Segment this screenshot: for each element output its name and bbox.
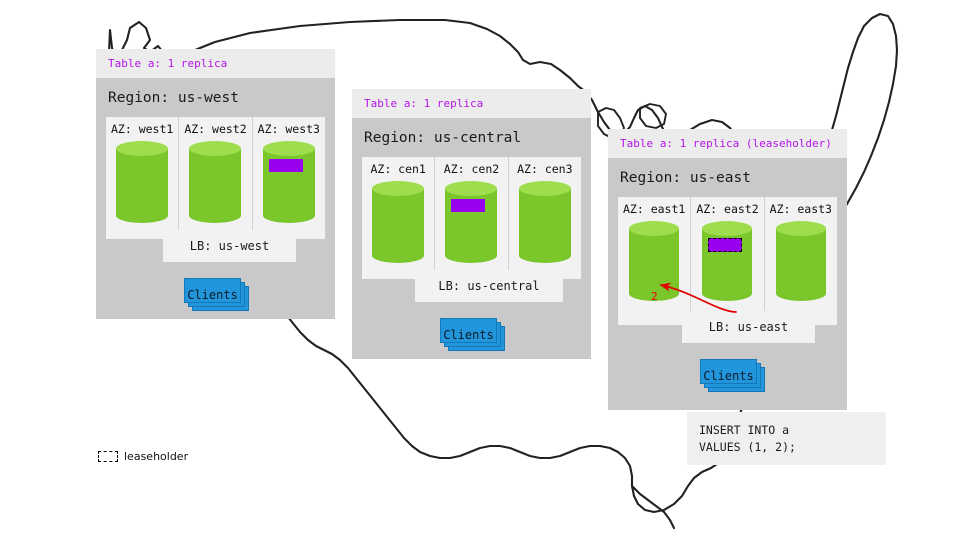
region-panel-us-central[interactable]: Table a: 1 replica Region: us-central AZ… [352, 89, 591, 359]
az-label-east1: AZ: east1 [618, 204, 690, 216]
az-label-east2: AZ: east2 [691, 204, 763, 216]
cylinder-body [629, 228, 679, 294]
load-balancer-us-west[interactable]: LB: us-west [163, 230, 296, 262]
region-title-us-central: Region: us-central [352, 118, 591, 157]
az-label-cen1: AZ: cen1 [362, 164, 434, 176]
legend-label: leaseholder [124, 450, 188, 463]
clients-group-us-central[interactable]: Clients [440, 318, 497, 343]
cylinder-body [116, 148, 168, 216]
az-label-cen3: AZ: cen3 [509, 164, 581, 176]
node-cylinder-east2[interactable] [702, 221, 752, 301]
az-cell-east1[interactable]: AZ: east1 [618, 197, 691, 325]
node-cylinder-east3[interactable] [776, 221, 826, 301]
cylinder-top [372, 181, 424, 196]
cylinder-top [116, 141, 168, 156]
az-cell-cen3[interactable]: AZ: cen3 [509, 157, 581, 279]
region-title-us-east: Region: us-east [608, 158, 847, 197]
region-banner-us-east: Table a: 1 replica (leaseholder) [608, 129, 847, 158]
node-cylinder-west1[interactable] [116, 141, 168, 223]
az-row-us-east: AZ: east1 AZ: east2 [618, 197, 837, 325]
clients-button-us-central[interactable]: Clients [440, 318, 497, 343]
az-cell-west1[interactable]: AZ: west1 [106, 117, 179, 239]
sql-statement-note: INSERT INTO a VALUES (1, 2); [687, 412, 886, 465]
region-panel-us-west[interactable]: Table a: 1 replica Region: us-west AZ: w… [96, 49, 335, 319]
region-title-us-west: Region: us-west [96, 78, 335, 117]
node-cylinder-west3[interactable] [263, 141, 315, 223]
cylinder-top [629, 221, 679, 236]
arrow-step-label: 2 [651, 291, 658, 302]
cylinder-body [519, 188, 571, 256]
replica-block-cen2[interactable] [451, 199, 485, 212]
az-label-west1: AZ: west1 [106, 124, 178, 136]
legend: leaseholder [98, 450, 188, 463]
az-cell-cen2[interactable]: AZ: cen2 [435, 157, 508, 279]
node-cylinder-cen1[interactable] [372, 181, 424, 263]
az-label-west3: AZ: west3 [253, 124, 325, 136]
node-cylinder-west2[interactable] [189, 141, 241, 223]
az-label-east3: AZ: east3 [765, 204, 837, 216]
az-label-west2: AZ: west2 [179, 124, 251, 136]
load-balancer-us-central[interactable]: LB: us-central [415, 270, 563, 302]
az-cell-west3[interactable]: AZ: west3 [253, 117, 325, 239]
az-cell-east3[interactable]: AZ: east3 [765, 197, 837, 325]
replica-block-west3[interactable] [269, 159, 303, 172]
node-cylinder-east1[interactable] [629, 221, 679, 301]
az-label-cen2: AZ: cen2 [435, 164, 507, 176]
cylinder-top [263, 141, 315, 156]
clients-button-us-east[interactable]: Clients [700, 359, 757, 384]
cylinder-top [519, 181, 571, 196]
clients-group-us-east[interactable]: Clients [700, 359, 757, 384]
cylinder-body [776, 228, 826, 294]
dashed-box-icon [98, 451, 118, 462]
az-cell-east2[interactable]: AZ: east2 [691, 197, 764, 325]
az-cell-west2[interactable]: AZ: west2 [179, 117, 252, 239]
region-panel-us-east[interactable]: Table a: 1 replica (leaseholder) Region:… [608, 129, 847, 410]
clients-button-us-west[interactable]: Clients [184, 278, 241, 303]
az-cell-cen1[interactable]: AZ: cen1 [362, 157, 435, 279]
load-balancer-us-east[interactable]: LB: us-east [682, 311, 815, 343]
region-banner-us-central: Table a: 1 replica [352, 89, 591, 118]
az-row-us-central: AZ: cen1 AZ: cen2 [362, 157, 581, 279]
cylinder-body [372, 188, 424, 256]
cylinder-top [776, 221, 826, 236]
cylinder-body [189, 148, 241, 216]
leaseholder-replica-block-east2[interactable] [708, 238, 742, 252]
diagram-canvas: Table a: 1 replica Region: us-west AZ: w… [0, 0, 960, 540]
az-row-us-west: AZ: west1 AZ: west2 AZ [106, 117, 325, 239]
node-cylinder-cen2[interactable] [445, 181, 497, 263]
node-cylinder-cen3[interactable] [519, 181, 571, 263]
clients-group-us-west[interactable]: Clients [184, 278, 241, 303]
region-banner-us-west: Table a: 1 replica [96, 49, 335, 78]
